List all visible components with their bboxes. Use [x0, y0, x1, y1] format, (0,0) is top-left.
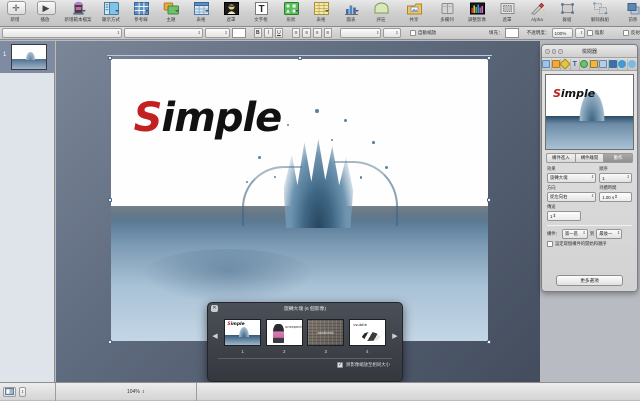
text-icon[interactable]: T [571, 59, 581, 70]
align-left-button[interactable]: ≡ [292, 28, 301, 38]
slide-thumbnail-image [11, 44, 47, 70]
comment-button[interactable]: 評註 [366, 0, 396, 26]
group-button[interactable]: 群組 [552, 0, 582, 26]
component-from-select[interactable]: 第一區⇕ [562, 229, 588, 239]
fill-color-swatch[interactable] [505, 28, 519, 38]
font-family-select[interactable]: ⇕ [2, 28, 122, 38]
text-color-swatch[interactable] [232, 28, 246, 38]
duration-stepper[interactable]: 1.00 s⇕ [599, 192, 632, 202]
direction-duration-row: 方向 從左向右⇕ 持續時間 1.00 s⇕ [542, 184, 637, 203]
opacity-stepper[interactable]: ⇕ [575, 28, 586, 38]
title-first-letter: S [134, 95, 162, 141]
build-icon[interactable] [561, 59, 571, 70]
share-icon [406, 1, 423, 16]
maskshape-icon [499, 1, 516, 16]
tab-build-in[interactable]: 構件進入 [546, 153, 575, 163]
slide-thumbnail-1[interactable]: 1 [0, 41, 54, 73]
dialog-footer: ✓ 將影像縮放至相同大小 [208, 359, 402, 368]
main-toolbar: ✛ 新增 ▶ 播放 [0, 0, 640, 27]
shapes-button[interactable]: 形狀 [276, 0, 306, 26]
component-to-label: 到 [590, 231, 594, 237]
thumbnail-caption: 4 [366, 349, 368, 354]
play-button[interactable]: ▶ 播放 [30, 0, 60, 26]
status-divider-2 [196, 383, 197, 401]
font-size-select[interactable]: ⇕ [205, 28, 230, 38]
slide-content[interactable]: Simple [111, 59, 488, 341]
thumbnail-image: aaesthetic [307, 319, 344, 346]
ungroup-icon [592, 1, 609, 16]
view-icon [103, 1, 120, 16]
layout-stepper[interactable]: ⇕ [19, 387, 26, 397]
media-thumb-3[interactable]: aaesthetic 3 [307, 319, 345, 354]
direction-label: 方向 [547, 185, 596, 191]
media-thumb-1[interactable]: Simple 1 [224, 319, 262, 354]
wand-icon [529, 1, 546, 16]
thumbnail-list: Simple 1 unexpected 2 aaesthetic [222, 319, 388, 354]
thumbnail-caption: 3 [325, 349, 327, 354]
selection-handle-br[interactable] [487, 340, 491, 344]
delivery-stepper[interactable]: 1⇕ [547, 211, 581, 221]
preview-title: Simple [553, 87, 595, 100]
adjust-image-button[interactable]: 調整影像 [462, 0, 492, 26]
component-row: 構件： 第一區⇕ 到 最後一⇕ [542, 229, 637, 239]
underline-button[interactable]: U [275, 28, 284, 38]
application-window: ✛ 新增 ▶ 播放 [0, 0, 640, 400]
tab-action[interactable]: 動作 [603, 153, 633, 163]
align-justify-button[interactable]: ≡ [324, 28, 333, 38]
view-button[interactable]: 顯示方式 [96, 0, 126, 26]
inspector-icon-bar[interactable]: T [542, 58, 637, 71]
grid-icon [313, 1, 330, 16]
chevron-down-icon [82, 10, 86, 12]
chevron-down-icon [115, 10, 119, 12]
effect-select[interactable]: 旋轉大塊⇕ [547, 173, 596, 183]
chevron-down-icon [295, 10, 299, 12]
zoom-control[interactable]: 104% ⇕ [127, 389, 145, 395]
align-center-button[interactable]: ≡ [302, 28, 311, 38]
ungroup-button[interactable]: 解除群組 [582, 0, 618, 26]
close-icon[interactable]: ✕ [211, 305, 218, 312]
opacity-value[interactable]: 100% [552, 28, 573, 38]
charts-button[interactable]: 圖表 [336, 0, 366, 26]
columns-button[interactable]: 多欄列 [432, 0, 462, 26]
close-icon[interactable] [545, 49, 550, 54]
shapes-icon [283, 1, 300, 16]
textbox-button[interactable]: T 文字框 [246, 0, 276, 26]
textbox-icon: T [253, 1, 270, 16]
title-rest: imple [161, 95, 281, 141]
bring-front-button[interactable]: 前移 [618, 0, 640, 26]
selection-handle-tr[interactable] [487, 56, 491, 60]
minimize-icon[interactable] [552, 49, 557, 54]
master-icon [70, 1, 87, 16]
image-sequence-dialog[interactable]: ✕ 旋轉大塊 (6 個影像) ◀ Simple 1 unexpected [207, 302, 403, 382]
effect-label: 效果 [547, 166, 596, 172]
line-spacing-select[interactable]: ⇕ [340, 28, 382, 38]
masters-button[interactable]: 主題 [156, 0, 186, 26]
format-bar: ⇕ ⇕ ⇕ B I U ≡ ≡ ≡ ≡ ⇕ ⇕ 自動縮放 填充： 不透明度： 1… [0, 27, 640, 40]
svg-text:T: T [258, 4, 264, 15]
slide-container[interactable]: Simple [111, 59, 488, 341]
direction-select[interactable]: 從左向右⇕ [547, 192, 596, 202]
metrics-icon[interactable] [590, 59, 600, 70]
thumbnail-caption: 1 [242, 349, 244, 354]
table-icon [193, 1, 210, 16]
component-order-checkbox-row[interactable]: 設定取個構件的開始和順序 [542, 239, 637, 249]
prev-arrow-icon[interactable]: ◀ [211, 332, 219, 340]
duration-label: 持續時間 [599, 185, 632, 191]
italic-button[interactable]: I [264, 28, 273, 38]
status-bar: ⇕ 104% ⇕ [0, 382, 640, 400]
front-icon [625, 1, 640, 16]
slide-navigator[interactable]: 1 [0, 41, 55, 382]
order-label: 順序 [599, 166, 632, 172]
order-select[interactable]: 1⇕ [599, 173, 632, 183]
selection-handle-bl[interactable] [108, 340, 112, 344]
chevron-down-icon [325, 10, 329, 12]
columns-icon [439, 1, 456, 16]
thumbnail-image: ssubtle [349, 319, 386, 346]
masters-icon [163, 1, 180, 16]
slide-title-text[interactable]: Simple [134, 98, 282, 138]
reflection-checkbox[interactable] [623, 30, 629, 36]
more-options-button[interactable]: 更多選項 [556, 275, 623, 286]
zoom-value: 104% [127, 389, 140, 395]
selection-handle-tc[interactable] [298, 56, 302, 60]
graphic-icon[interactable] [580, 59, 590, 70]
dialog-titlebar: ✕ 旋轉大塊 (6 個影像) [208, 303, 402, 314]
divider [547, 225, 632, 226]
window-controls[interactable] [545, 49, 563, 54]
chevron-down-icon [145, 10, 149, 12]
scale-images-label: 將影像縮放至相同大小 [346, 362, 390, 368]
chevron-down-icon [175, 10, 179, 12]
component-order-label: 設定取個構件的開始和順序 [555, 241, 607, 247]
document-icon[interactable] [542, 59, 552, 70]
component-to-select[interactable]: 最後一⇕ [596, 229, 622, 239]
toolbar-group-3: T 文字框 形狀 [246, 0, 396, 26]
group-icon [559, 1, 576, 16]
shadow-checkbox[interactable] [587, 30, 593, 36]
chevron-down-icon [205, 10, 209, 12]
chevron-down-icon [355, 10, 359, 12]
alpha-button[interactable]: Alpha [522, 0, 552, 26]
fill-label: 填充： [489, 30, 503, 36]
component-label: 構件： [547, 231, 560, 237]
chart-icon[interactable] [609, 59, 619, 70]
toolbar-group-2: 顯示方式 參考線 [96, 0, 246, 26]
mask-button[interactable]: 遮罩 [216, 0, 246, 26]
layout-icon[interactable] [3, 387, 16, 397]
chart-icon [343, 1, 360, 16]
tables-button[interactable]: 表格 [306, 0, 336, 26]
guides-button[interactable]: 參考線 [126, 0, 156, 26]
inspector-preview: Simple [545, 74, 634, 150]
bold-button[interactable]: B [254, 28, 263, 38]
new-slide-button[interactable]: ✛ 新增 [0, 0, 30, 26]
toolbar-group-1: ✛ 新增 ▶ 播放 [0, 0, 96, 26]
autoshrink-checkbox[interactable] [410, 30, 416, 36]
share-button[interactable]: 共享 [396, 0, 432, 26]
next-arrow-icon[interactable]: ▶ [391, 332, 399, 340]
new-master-button[interactable]: 新增範本檔案 [60, 0, 96, 26]
plus-icon: ✛ [7, 1, 24, 16]
table-button[interactable]: 表格 [186, 0, 216, 26]
opacity-label: 不透明度： [527, 30, 550, 36]
selection-handle-mr[interactable] [487, 198, 491, 202]
toolbar-group-5: 多欄列 調整影像 [432, 0, 640, 26]
hyperlink-icon[interactable] [618, 59, 628, 70]
slide-number: 1 [3, 52, 6, 58]
table-icon[interactable] [599, 59, 609, 70]
comment-icon [373, 1, 390, 16]
thumbnail-image: unexpected [266, 319, 303, 346]
thumbnail-caption: 2 [283, 349, 285, 354]
mask-icon [223, 1, 240, 16]
thumbnail-strip[interactable]: ◀ Simple 1 unexpected 2 [208, 314, 402, 358]
media-thumb-2[interactable]: unexpected 2 [265, 319, 303, 354]
mask-shape-button[interactable]: 遮罩 [492, 0, 522, 26]
tab-build-out[interactable]: 構件離開 [575, 153, 604, 163]
inspector-titlebar[interactable]: 檢閱器 [542, 45, 637, 58]
thumbnail-image: Simple [224, 319, 261, 346]
scale-images-checkbox[interactable]: ✓ [337, 362, 343, 368]
zoom-icon[interactable] [558, 49, 563, 54]
component-order-checkbox[interactable] [547, 241, 553, 247]
guides-icon [133, 1, 150, 16]
delivery-row: 傳送 1⇕ [542, 203, 637, 222]
delivery-label: 傳送 [547, 204, 581, 210]
inspector-panel[interactable]: 檢閱器 T Simple 構件進入 構件離開 動作 效果 旋轉大塊⇕ [541, 44, 638, 292]
inspector-tabs[interactable]: 構件進入 構件離開 動作 [546, 153, 633, 163]
selection-handle-ml[interactable] [108, 198, 112, 202]
chevron-updown-icon: ⇕ [142, 390, 145, 394]
align-right-button[interactable]: ≡ [313, 28, 322, 38]
quicktime-icon[interactable] [628, 59, 637, 70]
media-thumb-4[interactable]: ssubtle 4 [348, 319, 386, 354]
selection-handle-tl[interactable] [108, 56, 112, 60]
play-icon: ▶ [37, 1, 54, 16]
toolbar-group-4: 共享 [396, 0, 432, 26]
adjust-icon [469, 1, 486, 16]
font-style-select[interactable]: ⇕ [124, 28, 203, 38]
effect-order-row: 效果 旋轉大塊⇕ 順序 1⇕ [542, 163, 637, 184]
status-divider-1 [55, 383, 56, 401]
dialog-title: 旋轉大塊 (6 個影像) [284, 305, 326, 312]
list-style-select[interactable]: ⇕ [383, 28, 400, 38]
